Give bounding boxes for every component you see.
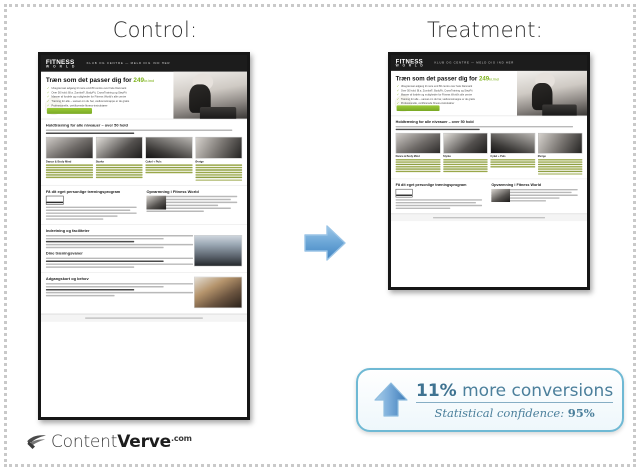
class-photo (96, 137, 143, 159)
text-line (396, 207, 451, 208)
uplift-headline: 11% more conversions (416, 381, 613, 403)
class-item[interactable] (396, 169, 441, 170)
up-arrow-icon (372, 381, 410, 419)
site-footer (391, 214, 587, 221)
hero-price: 249kr./md (133, 76, 154, 83)
warmup-section-title: Opvarmning i Fitness World (491, 183, 582, 187)
class-photo (46, 137, 93, 159)
class-item[interactable] (396, 166, 441, 167)
class-column-title: Styrke (96, 160, 143, 163)
class-item[interactable] (195, 177, 242, 178)
classes-section: Holdtræning for alle niveauer – over 50 … (41, 119, 247, 185)
class-item[interactable] (195, 179, 242, 180)
text-line (46, 212, 137, 213)
class-column: Dance & Body Mind (46, 137, 93, 182)
brand-wordmark: ContentVerve.com (51, 432, 192, 452)
class-item[interactable] (538, 161, 583, 162)
membership-photo (194, 277, 242, 308)
facilities-section-title: Indretning og faciliteter (46, 228, 242, 232)
text-line (46, 286, 164, 287)
facilities-photo (194, 235, 242, 266)
signup-cta-button[interactable] (397, 105, 440, 111)
class-column: Øvrige (195, 137, 242, 182)
class-item[interactable] (490, 164, 535, 165)
hero-benefit-list: Ubegrænset adgang til mere end 80 centre… (47, 86, 129, 108)
class-list (195, 164, 242, 180)
class-item[interactable] (443, 164, 488, 165)
class-item[interactable] (145, 169, 192, 170)
text-line (46, 289, 134, 290)
text-line (46, 241, 134, 242)
hero-headline: Træn som det passer dig for 249kr./md (396, 75, 499, 82)
class-item[interactable] (490, 159, 535, 160)
result-callout-box: 11% more conversions Statistical confide… (356, 368, 624, 432)
class-photo (396, 133, 441, 154)
hero-price-amount: 249 (479, 75, 489, 82)
class-item[interactable] (195, 169, 242, 170)
hero-section: Træn som det passer dig for 249kr./md Ub… (41, 72, 247, 120)
footer-links-line (433, 217, 545, 218)
classes-section-title: Holdtræning for alle niveauer – over 50 … (46, 123, 242, 127)
class-item[interactable] (46, 174, 93, 175)
hero-benefit-list: Ubegrænset adgang til mere end 80 centre… (397, 85, 475, 106)
class-item[interactable] (145, 164, 192, 165)
two-column-block: Få dit eget personlige træningsprogram O… (396, 183, 583, 211)
class-list (443, 159, 488, 172)
classes-section: Holdtræning for alle niveauer – over 50 … (391, 116, 587, 179)
class-item[interactable] (396, 161, 441, 162)
class-item[interactable] (538, 159, 583, 160)
class-item[interactable] (195, 172, 242, 173)
two-column-block: Få dit eget personlige træningsprogram O… (46, 189, 242, 221)
program-section-title: Få dit eget personlige træningsprogram (396, 183, 487, 187)
class-item[interactable] (490, 161, 535, 162)
site-logo-sub: W O R L D (396, 64, 425, 67)
warmup-section-title: Opvarmning i Fitness World (146, 189, 242, 193)
class-thumbnail-row: Dance & Body Mind (396, 133, 583, 176)
warmup-photo (146, 196, 166, 210)
site-topbar-tagline: KLUB OG CENTRE — MELD DIG IND HER (434, 62, 514, 65)
class-item[interactable] (443, 159, 488, 160)
class-list (96, 164, 143, 178)
class-column-title: Øvrige (538, 155, 583, 158)
brand-name-light: Content (51, 432, 117, 452)
text-line (46, 247, 164, 248)
hero-headline: Træn som det passer dig for 249kr./md (46, 76, 154, 83)
confidence-value: 95% (568, 406, 595, 420)
class-column-title: Cykel + Puls (145, 160, 192, 163)
brand-name-bold: Verve (117, 432, 171, 452)
class-list (145, 164, 192, 173)
text-line (396, 129, 480, 130)
control-heading: Control: (60, 18, 250, 42)
class-item[interactable] (145, 167, 192, 168)
hero-headline-text: Træn som det passer dig for (396, 75, 478, 82)
mock-website-treatment: FITNESS W O R L D KLUB OG CENTRE — MELD … (391, 55, 587, 221)
warmup-body (491, 189, 582, 203)
class-photo (490, 133, 535, 154)
program-column: Få dit eget personlige træningsprogram (396, 183, 487, 211)
warmup-photo (491, 189, 510, 202)
site-topbar: FITNESS W O R L D KLUB OG CENTRE — MELD … (391, 55, 587, 71)
text-line (46, 206, 137, 207)
text-line (396, 126, 573, 127)
class-column-title: Cykel + Puls (490, 155, 535, 158)
text-line (46, 283, 193, 284)
class-column-title: Dance & Body Mind (46, 160, 93, 163)
text-line (46, 238, 164, 239)
class-column: Cykel + Puls (145, 137, 192, 182)
class-item[interactable] (443, 169, 488, 170)
text-line (46, 266, 134, 267)
class-item[interactable] (443, 166, 488, 167)
control-page-content: FITNESS W O R L D KLUB OG CENTRE — MELD … (41, 55, 142, 233)
callout-text-block: 11% more conversions Statistical confide… (416, 381, 613, 420)
brand-tld: .com (171, 434, 192, 443)
membership-section: Adgangskort og behov (41, 273, 247, 314)
class-item[interactable] (538, 173, 583, 174)
class-item[interactable] (490, 166, 535, 167)
hero-price-unit: kr./md (144, 80, 154, 83)
text-line (396, 199, 482, 200)
class-column: Styrke (96, 137, 143, 182)
uplift-label: more conversions (462, 381, 613, 401)
text-line (46, 215, 118, 216)
hero-section: Træn som det passer dig for 249kr./md Ub… (391, 71, 587, 116)
site-topbar: FITNESS W O R L D KLUB OG CENTRE — MELD … (41, 55, 247, 72)
class-item[interactable] (396, 171, 441, 172)
class-item[interactable] (96, 164, 143, 165)
hero-price-unit: kr./md (489, 78, 499, 81)
program-section-title: Få dit eget personlige træningsprogram (46, 189, 142, 193)
text-line (396, 202, 476, 203)
text-line (46, 295, 115, 296)
hero-price-amount: 249 (133, 76, 144, 83)
class-item[interactable] (46, 177, 93, 178)
control-page-screenshot[interactable]: FITNESS W O R L D KLUB OG CENTRE — MELD … (38, 52, 250, 420)
swoosh-icon (26, 433, 48, 451)
warmup-body (146, 196, 242, 214)
class-column: Øvrige (538, 133, 583, 176)
uplift-value: 11% (416, 381, 457, 401)
class-list (538, 159, 583, 174)
warmup-column: Opvarmning i Fitness World (491, 183, 582, 211)
class-photo (195, 137, 242, 159)
mock-website-control: FITNESS W O R L D KLUB OG CENTRE — MELD … (41, 55, 247, 322)
class-column-title: Styrke (443, 155, 488, 158)
class-item[interactable] (443, 161, 488, 162)
site-logo: FITNESS W O R L D (396, 58, 425, 67)
hero-gym-bag-photo (200, 107, 236, 119)
text-line (46, 260, 164, 261)
text-line (46, 209, 130, 210)
treatment-page-screenshot[interactable]: FITNESS W O R L D KLUB OG CENTRE — MELD … (388, 52, 590, 290)
class-list (490, 159, 535, 167)
text-line (46, 218, 103, 219)
class-item[interactable] (396, 164, 441, 165)
program-column: Få dit eget personlige træningsprogram (46, 189, 142, 221)
class-item[interactable] (145, 172, 192, 173)
confidence-line: Statistical confidence: 95% (416, 406, 613, 420)
class-item[interactable] (96, 174, 143, 175)
text-line (146, 210, 203, 211)
right-arrow-icon (303, 223, 347, 263)
class-item[interactable] (46, 169, 93, 170)
site-logo: FITNESS W O R L D (46, 58, 76, 68)
class-column: Styrke (443, 133, 488, 176)
facilities-section: Indretning og faciliteter Dine træningsv… (41, 225, 247, 273)
class-column: Dance & Body Mind (396, 133, 441, 176)
class-item[interactable] (96, 167, 143, 168)
class-item[interactable] (96, 169, 143, 170)
class-photo (145, 137, 192, 159)
class-item[interactable] (538, 166, 583, 167)
text-line (396, 205, 482, 206)
program-warmup-section: Få dit eget personlige træningsprogram O… (41, 185, 247, 224)
footer-links-line (85, 317, 203, 318)
class-item[interactable] (96, 177, 143, 178)
text-line (46, 263, 193, 264)
confidence-label: Statistical confidence: (434, 406, 564, 420)
class-item[interactable] (396, 159, 441, 160)
class-photo (443, 133, 488, 154)
text-line (46, 130, 232, 131)
site-logo-sub: W O R L D (46, 65, 76, 68)
class-column-title: Øvrige (195, 160, 242, 163)
hero-price: 249kr./md (479, 75, 499, 82)
classes-section-title: Holdtræning for alle niveauer – over 50 … (396, 120, 583, 124)
class-item[interactable] (538, 169, 583, 170)
site-footer (41, 314, 247, 322)
text-line (46, 132, 134, 133)
class-item[interactable] (96, 172, 143, 173)
hero-gym-bag-photo (542, 104, 577, 116)
program-partner-logo (396, 189, 413, 197)
signup-cta-button[interactable] (47, 108, 92, 114)
text-line (46, 257, 193, 258)
program-partner-logo (46, 196, 64, 205)
slide-canvas: Control: Treatment: FITNESS W O R L D KL… (0, 0, 640, 471)
site-topbar-tagline: KLUB OG CENTRE — MELD DIG IND HER (87, 62, 171, 65)
class-photo (538, 133, 583, 154)
text-line (46, 244, 193, 245)
class-column: Cykel + Puls (490, 133, 535, 176)
program-warmup-section: Få dit eget personlige træningsprogram O… (391, 179, 587, 214)
class-list (396, 159, 441, 172)
class-list (46, 164, 93, 178)
warmup-column: Opvarmning i Fitness World (146, 189, 242, 221)
class-item[interactable] (538, 164, 583, 165)
class-column-title: Dance & Body Mind (396, 155, 441, 158)
class-item[interactable] (195, 167, 242, 168)
class-item[interactable] (46, 167, 93, 168)
text-line (46, 235, 193, 236)
class-item[interactable] (46, 172, 93, 173)
treatment-heading: Treatment: (385, 18, 585, 42)
class-item[interactable] (538, 171, 583, 172)
treatment-page-content: FITNESS W O R L D KLUB OG CENTRE — MELD … (391, 55, 482, 163)
text-line (46, 292, 193, 293)
class-item[interactable] (195, 174, 242, 175)
class-item[interactable] (195, 164, 242, 165)
hero-headline-text: Træn som det passer dig for (46, 76, 132, 83)
class-thumbnail-row: Dance & Body Mind (46, 137, 242, 182)
contentverve-logo[interactable]: ContentVerve.com (26, 432, 192, 452)
class-item[interactable] (46, 164, 93, 165)
class-item[interactable] (443, 171, 488, 172)
